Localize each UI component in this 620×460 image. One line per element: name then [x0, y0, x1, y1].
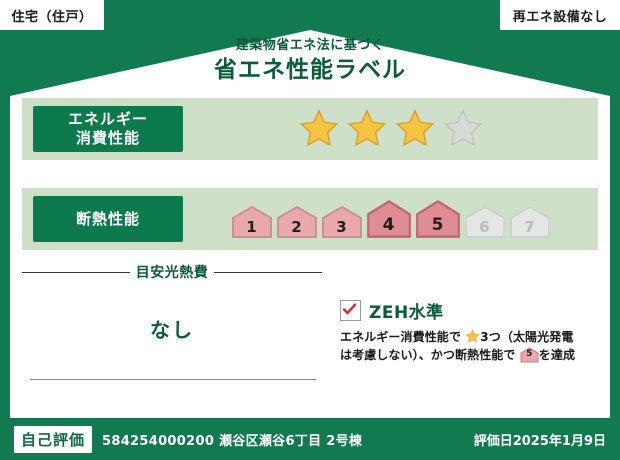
insulation-label-text: 断熱性能: [76, 210, 140, 229]
rule-bottom: [30, 379, 316, 380]
rule-right: [214, 272, 322, 273]
insulation-level-number: 4: [366, 215, 412, 235]
title-block: 建築物省エネ法に基づく 省エネ性能ラベル: [10, 38, 610, 85]
insulation-level-number: 7: [509, 218, 551, 236]
dwelling-type-tag: 住宅（住戸）: [0, 0, 104, 30]
self-evaluation-badge: 自己評価: [14, 426, 92, 453]
zeh-desc-part1: エネルギー消費性能で: [340, 330, 461, 344]
insulation-level-inactive: 6: [464, 205, 506, 239]
zeh-box: ZEH水準 エネルギー消費性能で 3つ（太陽光発電 は考慮しない）、かつ断熱性能…: [322, 258, 598, 408]
inline-star-icon: [465, 329, 480, 344]
insulation-level-number: 6: [464, 218, 506, 236]
renewable-equipment-tag: 再エネ設備なし: [500, 0, 620, 30]
energy-performance-row: エネルギー 消費性能: [22, 98, 598, 160]
insulation-level-active: 1: [231, 205, 273, 239]
page-title: 省エネ性能ラベル: [10, 55, 610, 85]
zeh-description: エネルギー消費性能で 3つ（太陽光発電 は考慮しない）、かつ断熱性能で 5 を達…: [340, 328, 598, 364]
utility-cost-box: 目安光熱費 なし: [22, 258, 322, 408]
insulation-level-active: 4: [366, 199, 412, 239]
footer-bar: 自己評価 584254000200 瀬谷区瀬谷6丁目 2号棟 評価日2025年1…: [0, 418, 620, 460]
insulation-level-active: 3: [321, 205, 363, 239]
check-icon: [342, 302, 357, 317]
star-rating: [298, 108, 484, 150]
rule-left: [22, 272, 130, 273]
insulation-level-number: 2: [276, 218, 318, 236]
insulation-rating-body: 1234567: [183, 199, 598, 239]
insulation-level-active: 2: [276, 205, 318, 239]
zeh-header: ZEH水準: [340, 298, 598, 323]
utility-cost-value: なし: [22, 314, 322, 343]
evaluation-date: 評価日2025年1月9日: [474, 430, 606, 449]
property-id-address: 584254000200 瀬谷区瀬谷6丁目 2号棟: [102, 430, 362, 449]
star-filled-icon: [346, 108, 388, 150]
energy-label-line2: 消費性能: [76, 129, 140, 148]
inline-house-icon: 5: [520, 347, 539, 363]
bottom-section: 目安光熱費 なし ZEH水準 エネルギー消費性能で: [22, 258, 598, 408]
insulation-level-scale: 1234567: [231, 199, 551, 239]
star-filled-icon: [298, 108, 340, 150]
star-filled-icon: [394, 108, 436, 150]
inline-house-number: 5: [520, 345, 539, 363]
utility-cost-title: 目安光熱費: [136, 262, 209, 282]
zeh-desc-part4: を達成: [539, 348, 575, 362]
zeh-checkbox[interactable]: [340, 300, 361, 321]
energy-rating-body: [183, 108, 598, 150]
energy-label-card: 住宅（住戸） 再エネ設備なし 建築物省エネ法に基づく 省エネ性能ラベル エネルギ…: [0, 0, 620, 460]
panel-content: 建築物省エネ法に基づく 省エネ性能ラベル エネルギー 消費性能 断熱性能 123…: [10, 30, 610, 418]
insulation-performance-row: 断熱性能 1234567: [22, 188, 598, 250]
energy-label-line1: エネルギー: [68, 110, 148, 129]
zeh-title: ZEH水準: [369, 298, 444, 323]
zeh-desc-part3: は考慮しない）、かつ断熱性能で: [340, 348, 516, 362]
insulation-level-inactive: 7: [509, 205, 551, 239]
utility-cost-header: 目安光熱費: [22, 262, 322, 282]
insulation-level-number: 3: [321, 218, 363, 236]
insulation-level-number: 5: [415, 215, 461, 235]
insulation-level-number: 1: [231, 218, 273, 236]
insulation-level-active: 5: [415, 199, 461, 239]
zeh-desc-part2: 3つ（太陽光発電: [480, 330, 573, 344]
title-subtitle: 建築物省エネ法に基づく: [10, 38, 610, 54]
insulation-performance-label: 断熱性能: [33, 196, 183, 242]
energy-performance-label: エネルギー 消費性能: [33, 106, 183, 152]
star-empty-icon: [442, 108, 484, 150]
